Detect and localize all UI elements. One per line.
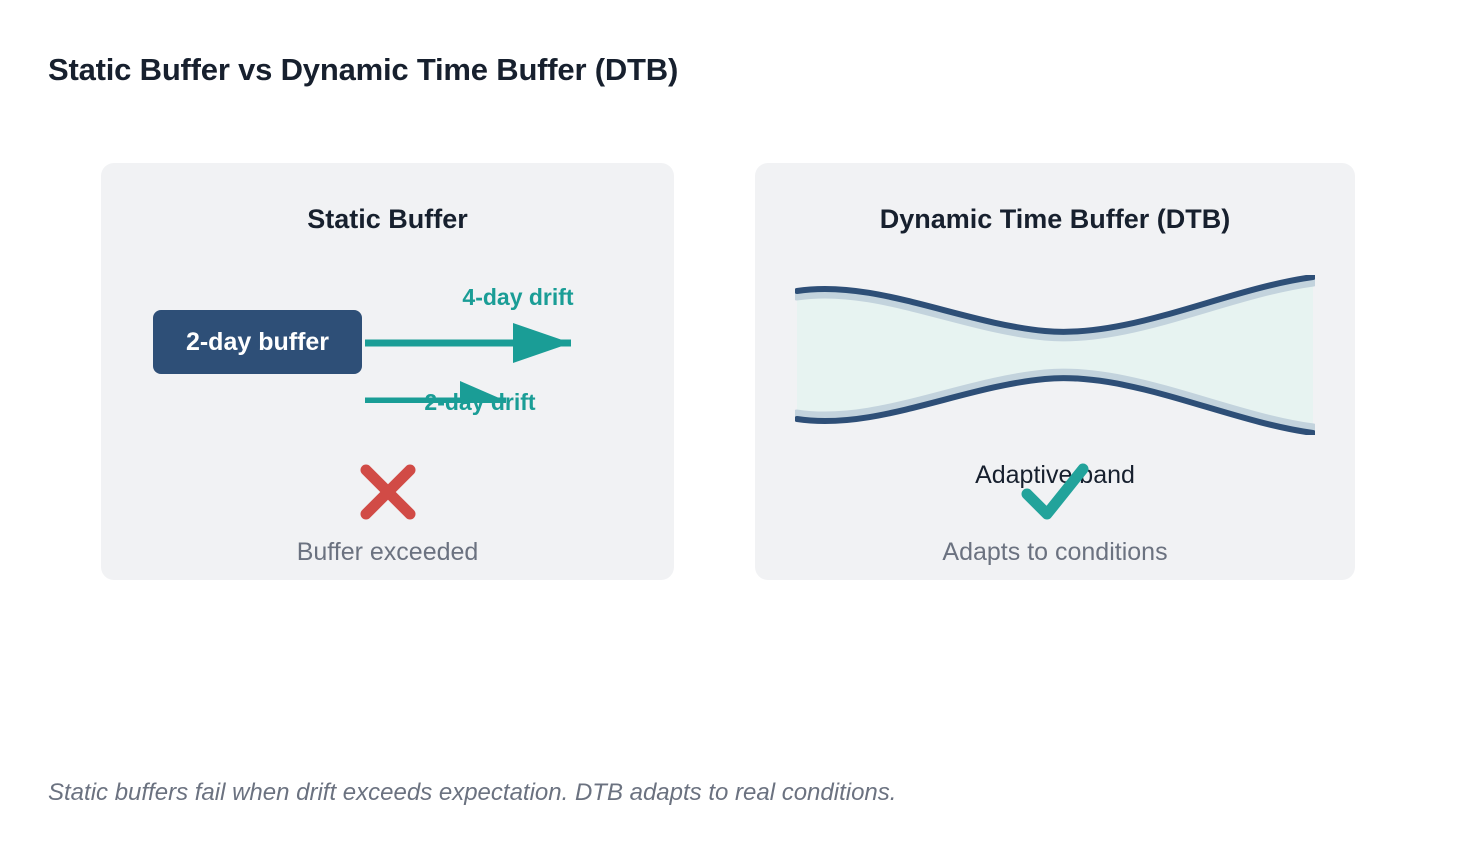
buffer-box: 2-day buffer — [153, 310, 362, 374]
adaptive-band-graphic: Adaptive band — [795, 275, 1315, 435]
card-dynamic-time-buffer-title: Dynamic Time Buffer (DTB) — [755, 204, 1355, 235]
card-static-buffer-title: Static Buffer — [101, 204, 674, 235]
drift-label-4-day: 4-day drift — [408, 284, 628, 311]
status-caption-static: Buffer exceeded — [101, 538, 674, 567]
footer-note: Static buffers fail when drift exceeds e… — [48, 779, 896, 807]
status-icon-static — [101, 461, 674, 523]
status-caption-dynamic: Adapts to conditions — [755, 538, 1355, 567]
card-static-buffer: Static Buffer 2-day buffer 4-day drift 2… — [101, 163, 674, 580]
check-icon — [1019, 461, 1091, 523]
cross-icon — [357, 461, 419, 523]
status-icon-dynamic — [755, 461, 1355, 523]
card-dynamic-time-buffer: Dynamic Time Buffer (DTB) Adaptive band … — [755, 163, 1355, 580]
adaptive-band-svg — [795, 275, 1315, 435]
drift-label-2-day: 2-day drift — [370, 389, 590, 416]
buffer-box-label: 2-day buffer — [186, 328, 329, 357]
drift-arrow-4-day — [365, 323, 571, 363]
page-title: Static Buffer vs Dynamic Time Buffer (DT… — [48, 52, 678, 88]
